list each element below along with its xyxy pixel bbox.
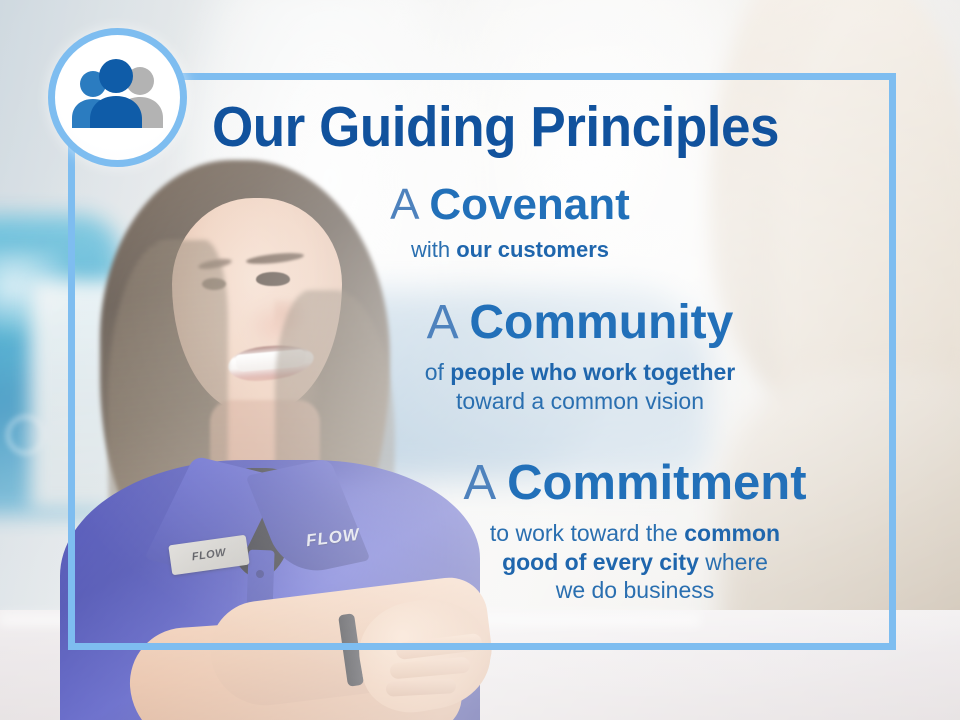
principle-word: Commitment <box>507 456 806 510</box>
principle-word: Covenant <box>429 180 629 229</box>
subtext-line: with our customers <box>280 236 740 263</box>
principle-covenant: A Covenant with our customers <box>280 182 740 263</box>
principle-article: A <box>390 180 429 229</box>
principle-subtext-community: of people who work together toward a com… <box>320 358 840 415</box>
principle-article: A <box>463 456 507 510</box>
subtext-line: of people who work together <box>320 358 840 387</box>
subtext-line: toward a common vision <box>320 387 840 416</box>
people-group-icon <box>48 28 187 167</box>
subtext-line: we do business <box>400 576 870 605</box>
principle-heading-commitment: A Commitment <box>400 458 870 509</box>
principle-article: A <box>427 296 470 349</box>
principle-subtext-commitment: to work toward the common good of every … <box>400 519 870 605</box>
principle-community: A Community of people who work together … <box>320 298 840 415</box>
principle-commitment: A Commitment to work toward the common g… <box>400 458 870 605</box>
principle-heading-covenant: A Covenant <box>280 182 740 228</box>
principle-subtext-covenant: with our customers <box>280 236 740 263</box>
subtext-line: to work toward the common <box>400 519 870 548</box>
poster-root: FLOW FLOW Our Gu <box>0 0 960 720</box>
principle-word: Community <box>469 296 733 349</box>
principle-heading-community: A Community <box>320 298 840 348</box>
subtext-line: good of every city where <box>400 548 870 577</box>
page-title: Our Guiding Principles <box>212 94 826 160</box>
